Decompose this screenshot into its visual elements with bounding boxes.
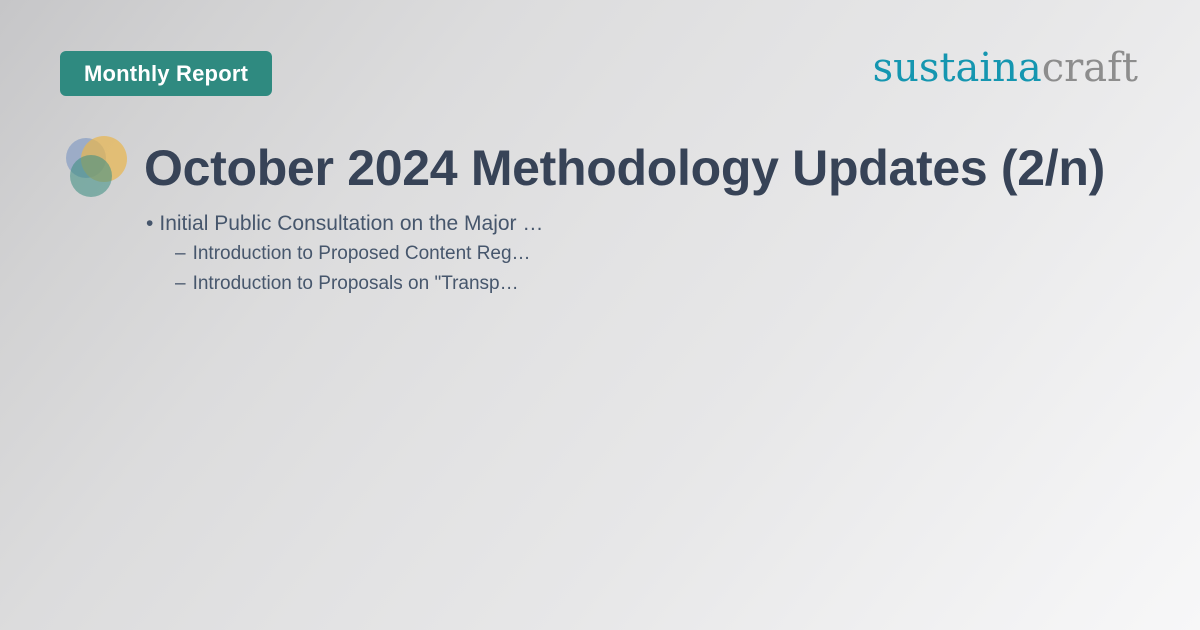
page-title: October 2024 Methodology Updates (2/n) bbox=[144, 142, 1105, 195]
status-badge-label: Monthly Report bbox=[84, 63, 248, 85]
dash-marker-icon: – bbox=[175, 239, 186, 269]
dash-marker-icon: – bbox=[175, 269, 186, 299]
bullet-marker-icon: • bbox=[146, 209, 153, 239]
brand-logo: sustainacraft bbox=[873, 48, 1138, 88]
list-item: • Initial Public Consultation on the Maj… bbox=[146, 209, 1146, 239]
title-row: October 2024 Methodology Updates (2/n) bbox=[60, 133, 1150, 203]
list-item-label: Initial Public Consultation on the Major… bbox=[159, 209, 543, 239]
venn-circles-icon bbox=[60, 133, 130, 203]
brand-logo-primary: sustaina bbox=[873, 48, 1042, 88]
list-item: – Introduction to Proposed Content Reg… bbox=[175, 239, 1146, 269]
brand-logo-secondary: craft bbox=[1042, 48, 1138, 88]
bullet-list: • Initial Public Consultation on the Maj… bbox=[146, 209, 1146, 299]
list-item: – Introduction to Proposals on "Transp… bbox=[175, 269, 1146, 299]
list-item-label: Introduction to Proposals on "Transp… bbox=[193, 269, 519, 299]
status-badge: Monthly Report bbox=[60, 51, 272, 96]
report-slide: Monthly Report sustainacraft October 202… bbox=[0, 0, 1200, 630]
list-item-label: Introduction to Proposed Content Reg… bbox=[193, 239, 531, 269]
